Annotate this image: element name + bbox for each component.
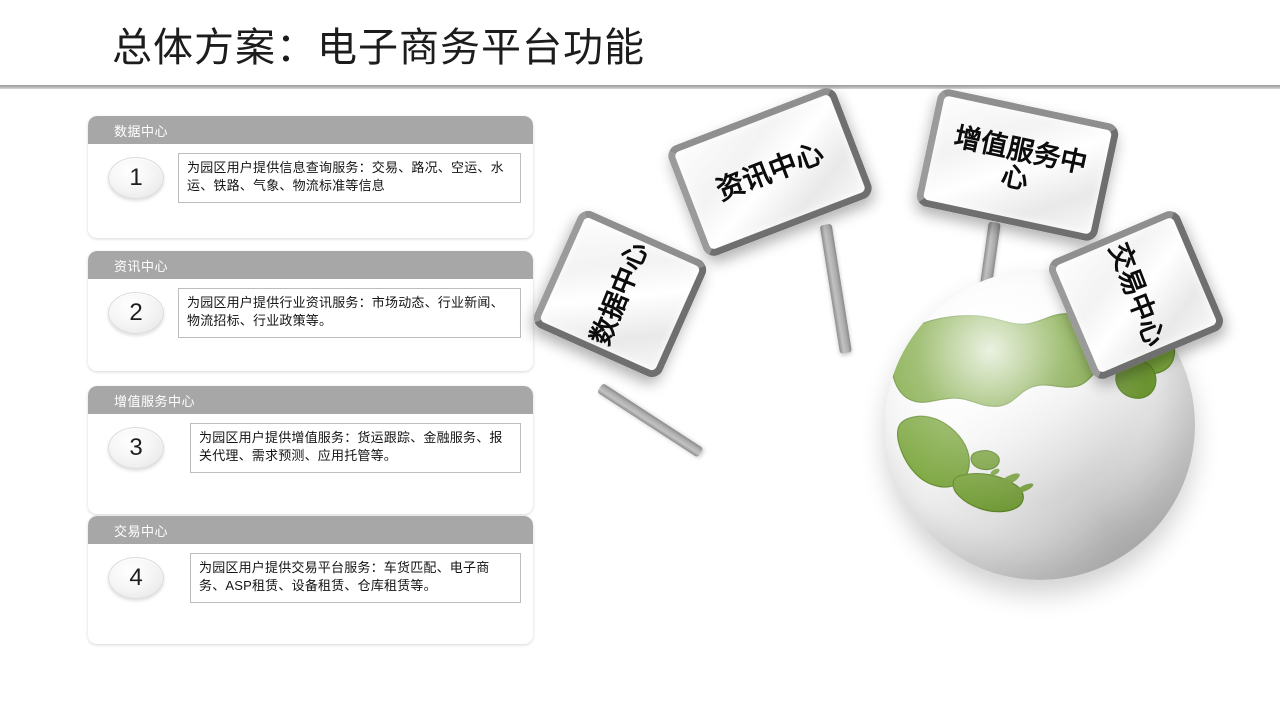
card-number-badge: 2 (108, 292, 164, 334)
slide-canvas: 总体方案：电子商务平台功能 数据中心 1 为园区用户提供信息查询服务：交易、路况… (0, 0, 1280, 720)
feature-card[interactable]: 交易中心 4 为园区用户提供交易平台服务：车货匹配、电子商务、ASP租赁、设备租… (88, 516, 533, 644)
signpost-post (597, 383, 704, 458)
card-number-badge: 1 (108, 157, 164, 199)
card-body: 2 为园区用户提供行业资讯服务：市场动态、行业新闻、物流招标、行业政策等。 (88, 279, 533, 347)
feature-card[interactable]: 资讯中心 2 为园区用户提供行业资讯服务：市场动态、行业新闻、物流招标、行业政策… (88, 251, 533, 371)
card-body: 3 为园区用户提供增值服务：货运跟踪、金融服务、报关代理、需求预测、应用托管等。 (88, 414, 533, 482)
signpost-post (820, 224, 852, 354)
feature-card[interactable]: 数据中心 1 为园区用户提供信息查询服务：交易、路况、空运、水运、铁路、气象、物… (88, 116, 533, 238)
card-header-label: 交易中心 (114, 521, 168, 540)
card-header: 增值服务中心 (88, 386, 533, 414)
card-description: 为园区用户提供信息查询服务：交易、路况、空运、水运、铁路、气象、物流标准等信息 (178, 153, 521, 203)
signpost-label: 数据中心 (587, 238, 654, 350)
card-header-label: 增值服务中心 (114, 391, 195, 410)
card-body: 1 为园区用户提供信息查询服务：交易、路况、空运、水运、铁路、气象、物流标准等信… (88, 144, 533, 212)
card-number-badge: 4 (108, 557, 164, 599)
card-header: 交易中心 (88, 516, 533, 544)
signpost-label: 增值服务中心 (943, 124, 1091, 207)
feature-card[interactable]: 增值服务中心 3 为园区用户提供增值服务：货运跟踪、金融服务、报关代理、需求预测… (88, 386, 533, 514)
card-header-label: 数据中心 (114, 121, 168, 140)
card-header: 资讯中心 (88, 251, 533, 279)
signpost-label: 交易中心 (1103, 238, 1169, 352)
card-description: 为园区用户提供行业资讯服务：市场动态、行业新闻、物流招标、行业政策等。 (178, 288, 521, 338)
title-divider (0, 85, 1280, 89)
card-header-label: 资讯中心 (114, 256, 168, 275)
card-header: 数据中心 (88, 116, 533, 144)
signpost-data-center[interactable]: 数据中心 (530, 207, 710, 381)
signpost-info-center[interactable]: 资讯中心 (665, 85, 875, 260)
card-body: 4 为园区用户提供交易平台服务：车货匹配、电子商务、ASP租赁、设备租赁、仓库租… (88, 544, 533, 612)
page-title: 总体方案：电子商务平台功能 (112, 22, 645, 74)
card-description: 为园区用户提供增值服务：货运跟踪、金融服务、报关代理、需求预测、应用托管等。 (190, 423, 521, 473)
card-number-badge: 3 (108, 427, 164, 469)
signpost-value-added-service-center[interactable]: 增值服务中心 (915, 87, 1121, 243)
card-description: 为园区用户提供交易平台服务：车货匹配、电子商务、ASP租赁、设备租赁、仓库租赁等… (190, 553, 521, 603)
signpost-globe-illustration: 数据中心 资讯中心 增值服务中心 交易中心 (540, 95, 1260, 615)
signpost-label: 资讯中心 (713, 139, 828, 206)
